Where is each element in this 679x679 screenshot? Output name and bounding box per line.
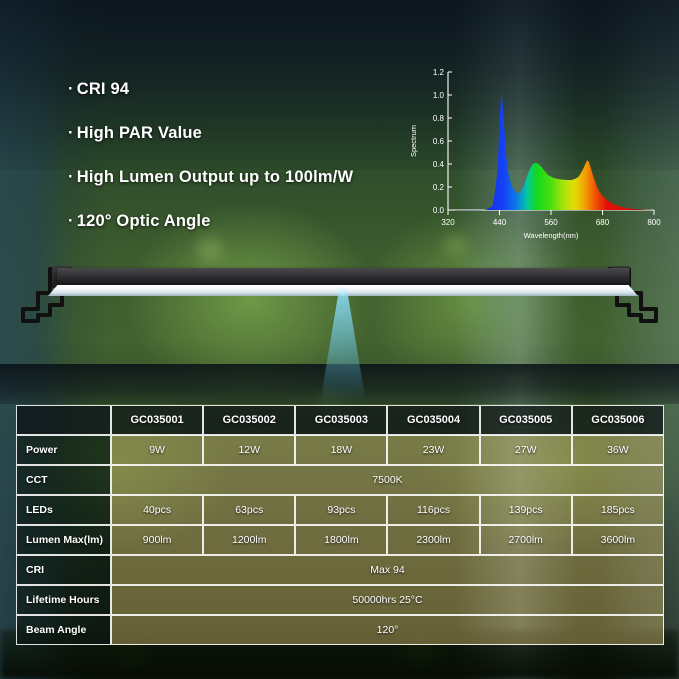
x-tick-label: 680 [596, 218, 610, 227]
table-cell: 18W [295, 435, 387, 465]
table-cell-merged: 120° [111, 615, 664, 645]
table-cell: 27W [480, 435, 572, 465]
table-row-label: LEDs [16, 495, 111, 525]
bullet-icon: · [68, 212, 74, 230]
table-row: Lumen Max(lm) 900lm 1200lm 1800lm 2300lm… [16, 525, 664, 555]
feature-item: ·High Lumen Output up to 100lm/W [68, 168, 408, 187]
table-row-label: CCT [16, 465, 111, 495]
table-header-model: GC035003 [295, 405, 387, 435]
y-tick-label: 0.6 [433, 137, 445, 146]
bullet-icon: · [68, 80, 74, 98]
feature-label: High PAR Value [77, 124, 202, 142]
feature-item: ·High PAR Value [68, 124, 408, 143]
table-cell: 9W [111, 435, 203, 465]
feature-item: ·120° Optic Angle [68, 212, 408, 231]
x-tick-label: 800 [647, 218, 661, 227]
table-cell: 36W [572, 435, 664, 465]
table-row-label: Beam Angle [16, 615, 111, 645]
y-tick-label: 0.2 [433, 183, 445, 192]
y-axis-title: Spectrum [409, 125, 418, 157]
chart-x-axis: 320 440 560 680 800 Wavelength(nm) [441, 210, 661, 240]
x-axis-title: Wavelength(nm) [524, 231, 579, 240]
feature-label: 120° Optic Angle [77, 212, 211, 230]
table-header-row: GC035001 GC035002 GC035003 GC035004 GC03… [16, 405, 664, 435]
y-tick-label: 0.0 [433, 206, 445, 215]
bullet-icon: · [68, 168, 74, 186]
x-tick-label: 440 [493, 218, 507, 227]
table-row: CRI Max 94 [16, 555, 664, 585]
y-tick-label: 0.8 [433, 114, 445, 123]
table-row: CCT 7500K [16, 465, 664, 495]
table-row-label: Lumen Max(lm) [16, 525, 111, 555]
table-cell: 23W [387, 435, 479, 465]
light-beam-source [336, 288, 350, 296]
table-cell: 900lm [111, 525, 203, 555]
led-grow-bar-body [57, 268, 629, 286]
table-row-label: Lifetime Hours [16, 585, 111, 615]
bullet-icon: · [68, 124, 74, 142]
feature-label: High Lumen Output up to 100lm/W [77, 168, 354, 186]
table-header-model: GC035002 [203, 405, 295, 435]
table-cell: 139pcs [480, 495, 572, 525]
table-cell-merged: 50000hrs 25°C [111, 585, 664, 615]
table-cell-merged: Max 94 [111, 555, 664, 585]
table-corner-cell [16, 405, 111, 435]
chart-y-axis: 1.2 1.0 0.8 0.6 0.4 0.2 0.0 Spectrum [409, 68, 452, 215]
y-tick-label: 0.4 [433, 160, 445, 169]
table-header-model: GC035001 [111, 405, 203, 435]
x-tick-label: 560 [544, 218, 558, 227]
table-cell: 63pcs [203, 495, 295, 525]
table-cell: 93pcs [295, 495, 387, 525]
table-header-model: GC035006 [572, 405, 664, 435]
spectrum-chart: 1.2 1.0 0.8 0.6 0.4 0.2 0.0 Spectrum 320… [404, 64, 656, 240]
table-header-model: GC035005 [480, 405, 572, 435]
feature-list: ·CRI 94 ·High PAR Value ·High Lumen Outp… [68, 80, 408, 256]
table-row: Lifetime Hours 50000hrs 25°C [16, 585, 664, 615]
x-tick-label: 320 [441, 218, 455, 227]
table-row: LEDs 40pcs 63pcs 93pcs 116pcs 139pcs 185… [16, 495, 664, 525]
y-tick-label: 1.2 [433, 68, 445, 77]
table-row: Power 9W 12W 18W 23W 27W 36W [16, 435, 664, 465]
spectrum-curve [448, 95, 654, 210]
table-row-label: Power [16, 435, 111, 465]
feature-item: ·CRI 94 [68, 80, 408, 99]
table-cell: 1200lm [203, 525, 295, 555]
table-cell: 185pcs [572, 495, 664, 525]
y-tick-label: 1.0 [433, 91, 445, 100]
table-cell-merged: 7500K [111, 465, 664, 495]
table-cell: 2700lm [480, 525, 572, 555]
feature-label: CRI 94 [77, 80, 130, 98]
table-header-model: GC035004 [387, 405, 479, 435]
table-row: Beam Angle 120° [16, 615, 664, 645]
table-row-label: CRI [16, 555, 111, 585]
table-cell: 3600lm [572, 525, 664, 555]
table-cell: 116pcs [387, 495, 479, 525]
product-infographic: ·CRI 94 ·High PAR Value ·High Lumen Outp… [0, 0, 679, 679]
table-cell: 1800lm [295, 525, 387, 555]
table-cell: 40pcs [111, 495, 203, 525]
specifications-table: GC035001 GC035002 GC035003 GC035004 GC03… [16, 405, 664, 645]
table-cell: 12W [203, 435, 295, 465]
table-cell: 2300lm [387, 525, 479, 555]
